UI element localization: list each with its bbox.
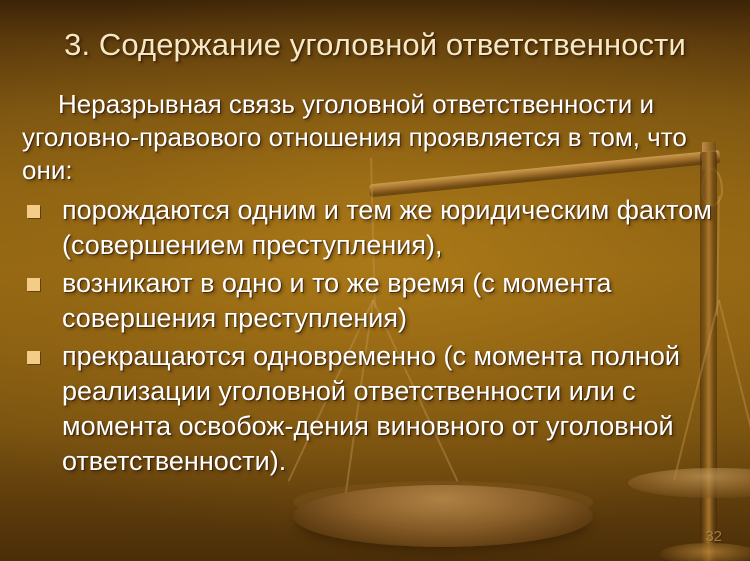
intro-paragraph: Неразрывная связь уголовной ответственно… bbox=[18, 88, 732, 187]
bullet-list: порождаются одним и тем же юридическим ф… bbox=[18, 193, 732, 479]
list-item-text: порождаются одним и тем же юридическим ф… bbox=[62, 195, 712, 260]
list-item-text: прекращаются одновременно (с момента пол… bbox=[62, 341, 680, 476]
list-item: порождаются одним и тем же юридическим ф… bbox=[18, 193, 732, 263]
slide-content: 3. Содержание уголовной ответственности … bbox=[0, 0, 750, 561]
bullet-square-icon bbox=[27, 205, 40, 218]
bullet-square-icon bbox=[27, 351, 40, 364]
page-number: 32 bbox=[705, 528, 722, 545]
bullet-square-icon bbox=[27, 278, 40, 291]
list-item-text: возникают в одно и то же время (с момент… bbox=[62, 268, 611, 333]
slide-body: Неразрывная связь уголовной ответственно… bbox=[18, 88, 732, 482]
slide-title: 3. Содержание уголовной ответственности bbox=[0, 26, 750, 64]
list-item: возникают в одно и то же время (с момент… bbox=[18, 266, 732, 336]
presentation-slide: 3. Содержание уголовной ответственности … bbox=[0, 0, 750, 561]
list-item: прекращаются одновременно (с момента пол… bbox=[18, 339, 732, 479]
